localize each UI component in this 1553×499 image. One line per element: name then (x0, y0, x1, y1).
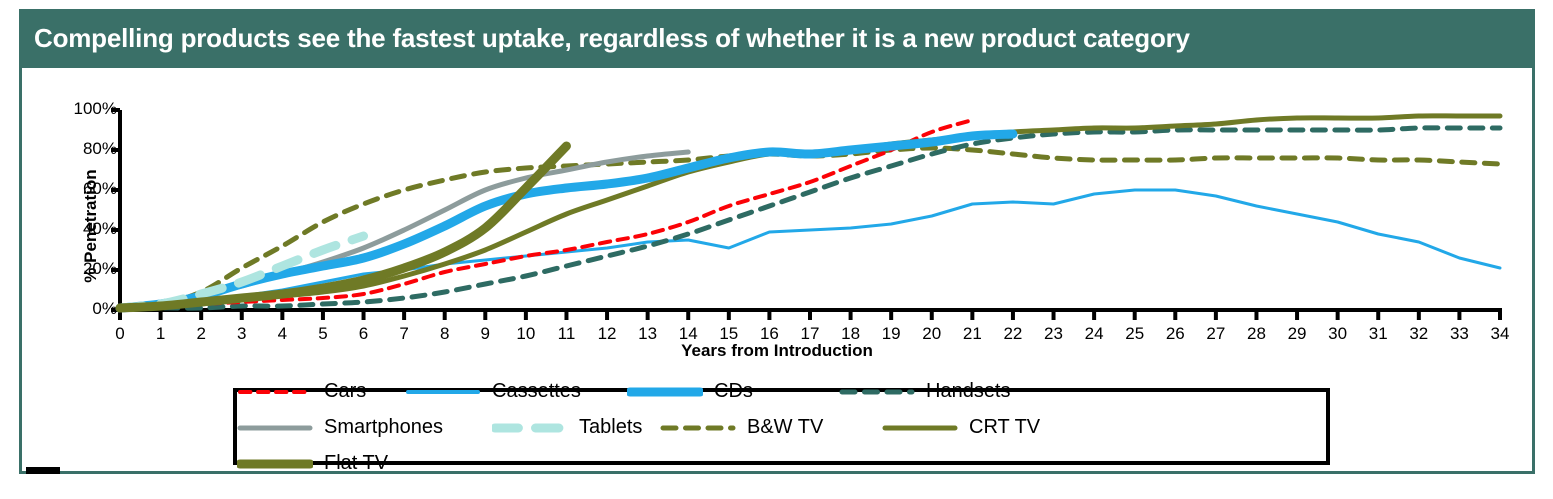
legend-label: Cars (324, 380, 366, 403)
legend-swatch (237, 418, 313, 438)
legend-label: CDs (714, 380, 753, 403)
legend-swatch (882, 418, 958, 438)
legend-swatch (405, 382, 481, 402)
legend-item-smartphones[interactable]: Smartphones (237, 410, 492, 446)
legend-item-cars[interactable]: Cars (237, 374, 405, 410)
legend-item-b-w-tv[interactable]: B&W TV (660, 410, 882, 446)
legend-label: Handsets (926, 380, 1011, 403)
corner-mark (26, 467, 60, 474)
legend-swatch (627, 382, 703, 402)
legend-item-flat-tv[interactable]: Flat TV (237, 446, 473, 482)
legend-item-handsets[interactable]: Handsets (839, 374, 1075, 410)
legend-swatch (660, 418, 736, 438)
legend-label: CRT TV (969, 416, 1040, 439)
legend-label: Smartphones (324, 416, 443, 439)
chart-legend: CarsCassettesCDsHandsetsSmartphonesTable… (233, 388, 1330, 465)
slide-header: Compelling products see the fastest upta… (19, 9, 1535, 68)
legend-swatch (492, 418, 568, 438)
legend-swatch (237, 382, 313, 402)
legend-label: Cassettes (492, 380, 581, 403)
legend-swatch (839, 382, 915, 402)
page-title: Compelling products see the fastest upta… (34, 23, 1190, 54)
legend-label: B&W TV (747, 416, 823, 439)
series-line-smartphones (120, 152, 688, 308)
legend-label: Tablets (579, 416, 642, 439)
legend-item-crt-tv[interactable]: CRT TV (882, 410, 1094, 446)
chart-plot (19, 68, 1535, 368)
legend-item-cassettes[interactable]: Cassettes (405, 374, 627, 410)
x-axis-ticks: 0123456789101112131415161718192021222324… (19, 68, 1535, 98)
legend-item-tablets[interactable]: Tablets (492, 410, 660, 446)
legend-item-cds[interactable]: CDs (627, 374, 839, 410)
slide: Compelling products see the fastest upta… (0, 0, 1553, 499)
legend-swatch (237, 454, 313, 474)
x-axis-title: Years from Introduction (19, 341, 1535, 361)
legend-label: Flat TV (324, 452, 388, 475)
